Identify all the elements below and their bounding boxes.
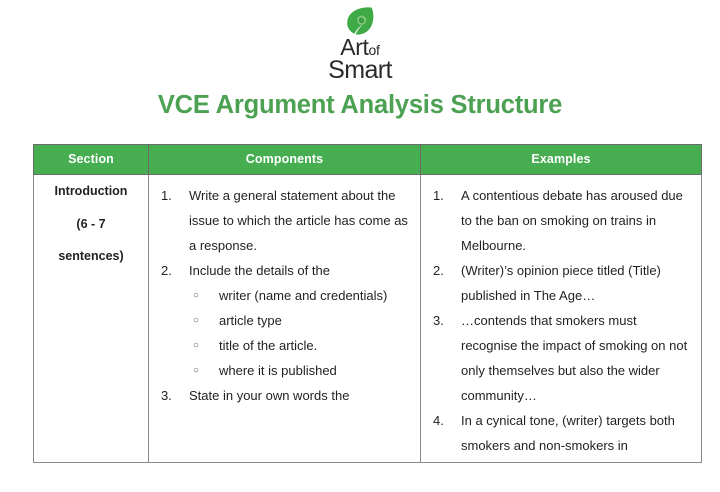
table-header-row: Section Components Examples [34,145,702,175]
list-item: ○ writer (name and credentials) [189,284,410,309]
list-item-text: (Writer)’s opinion piece titled (Title) … [461,263,661,303]
brand-logo: Artof Smart [0,0,720,82]
list-item-text: A contentious debate has aroused due to … [461,188,683,253]
table-head: Section Components Examples [34,145,702,175]
column-header-components: Components [149,145,421,175]
list-item: 3. State in your own words the [159,384,410,409]
examples-list: 1. A contentious debate has aroused due … [431,184,691,458]
circle-bullet-icon: ○ [193,309,199,334]
page-title: VCE Argument Analysis Structure [0,91,720,120]
structure-table-wrapper: Section Components Examples Introduction… [33,144,701,463]
list-item: 2. (Writer)’s opinion piece titled (Titl… [431,259,691,309]
list-item-text: State in your own words the [189,388,349,403]
column-header-examples: Examples [421,145,702,175]
list-item: ○ article type [189,309,410,334]
list-item-text: …contends that smokers must recognise th… [461,313,687,403]
list-marker: 3. [433,309,455,334]
list-item: ○ title of the article. [189,334,410,359]
components-list: 1. Write a general statement about the i… [159,184,410,409]
list-item-text: Write a general statement about the issu… [189,188,408,253]
list-item-text: article type [219,313,282,328]
list-item: 4. In a cynical tone, (writer) targets b… [431,409,691,459]
cell-components: 1. Write a general statement about the i… [149,175,421,463]
list-marker: 1. [433,184,455,209]
list-item: 1. Write a general statement about the i… [159,184,410,259]
list-item-text: Include the details of the [189,263,330,278]
list-marker: 2. [433,259,455,284]
components-sublist: ○ writer (name and credentials) ○ articl… [189,284,410,384]
list-item: ○ where it is published [189,359,410,384]
list-item-text: In a cynical tone, (writer) targets both… [461,413,675,453]
list-marker: 3. [161,384,183,409]
list-marker: 2. [161,259,183,284]
table-body: Introduction (6 - 7 sentences) 1. Write … [34,175,702,463]
list-item: 3. …contends that smokers must recognise… [431,309,691,409]
column-header-section: Section [34,145,149,175]
section-length-line-1: (6 - 7 [34,208,148,241]
brand-wordmark: Artof Smart [328,37,392,82]
circle-bullet-icon: ○ [193,359,199,384]
structure-table: Section Components Examples Introduction… [33,144,702,463]
list-marker: 4. [433,409,455,434]
list-item-text: writer (name and credentials) [219,288,387,303]
list-item-text: title of the article. [219,338,317,353]
cell-section: Introduction (6 - 7 sentences) [34,175,149,463]
section-name: Introduction [34,175,148,208]
wordmark-smart: Smart [328,59,392,83]
circle-bullet-icon: ○ [193,334,199,359]
circle-bullet-icon: ○ [193,284,199,309]
cell-examples: 1. A contentious debate has aroused due … [421,175,702,463]
list-item: 1. A contentious debate has aroused due … [431,184,691,259]
worksheet-page: Artof Smart VCE Argument Analysis Struct… [0,0,720,492]
table-row: Introduction (6 - 7 sentences) 1. Write … [34,175,702,463]
list-item: 2. Include the details of the ○ writer (… [159,259,410,384]
section-length-line-2: sentences) [34,240,148,273]
list-item-text: where it is published [219,363,337,378]
leaf-icon [343,6,377,36]
list-marker: 1. [161,184,183,209]
